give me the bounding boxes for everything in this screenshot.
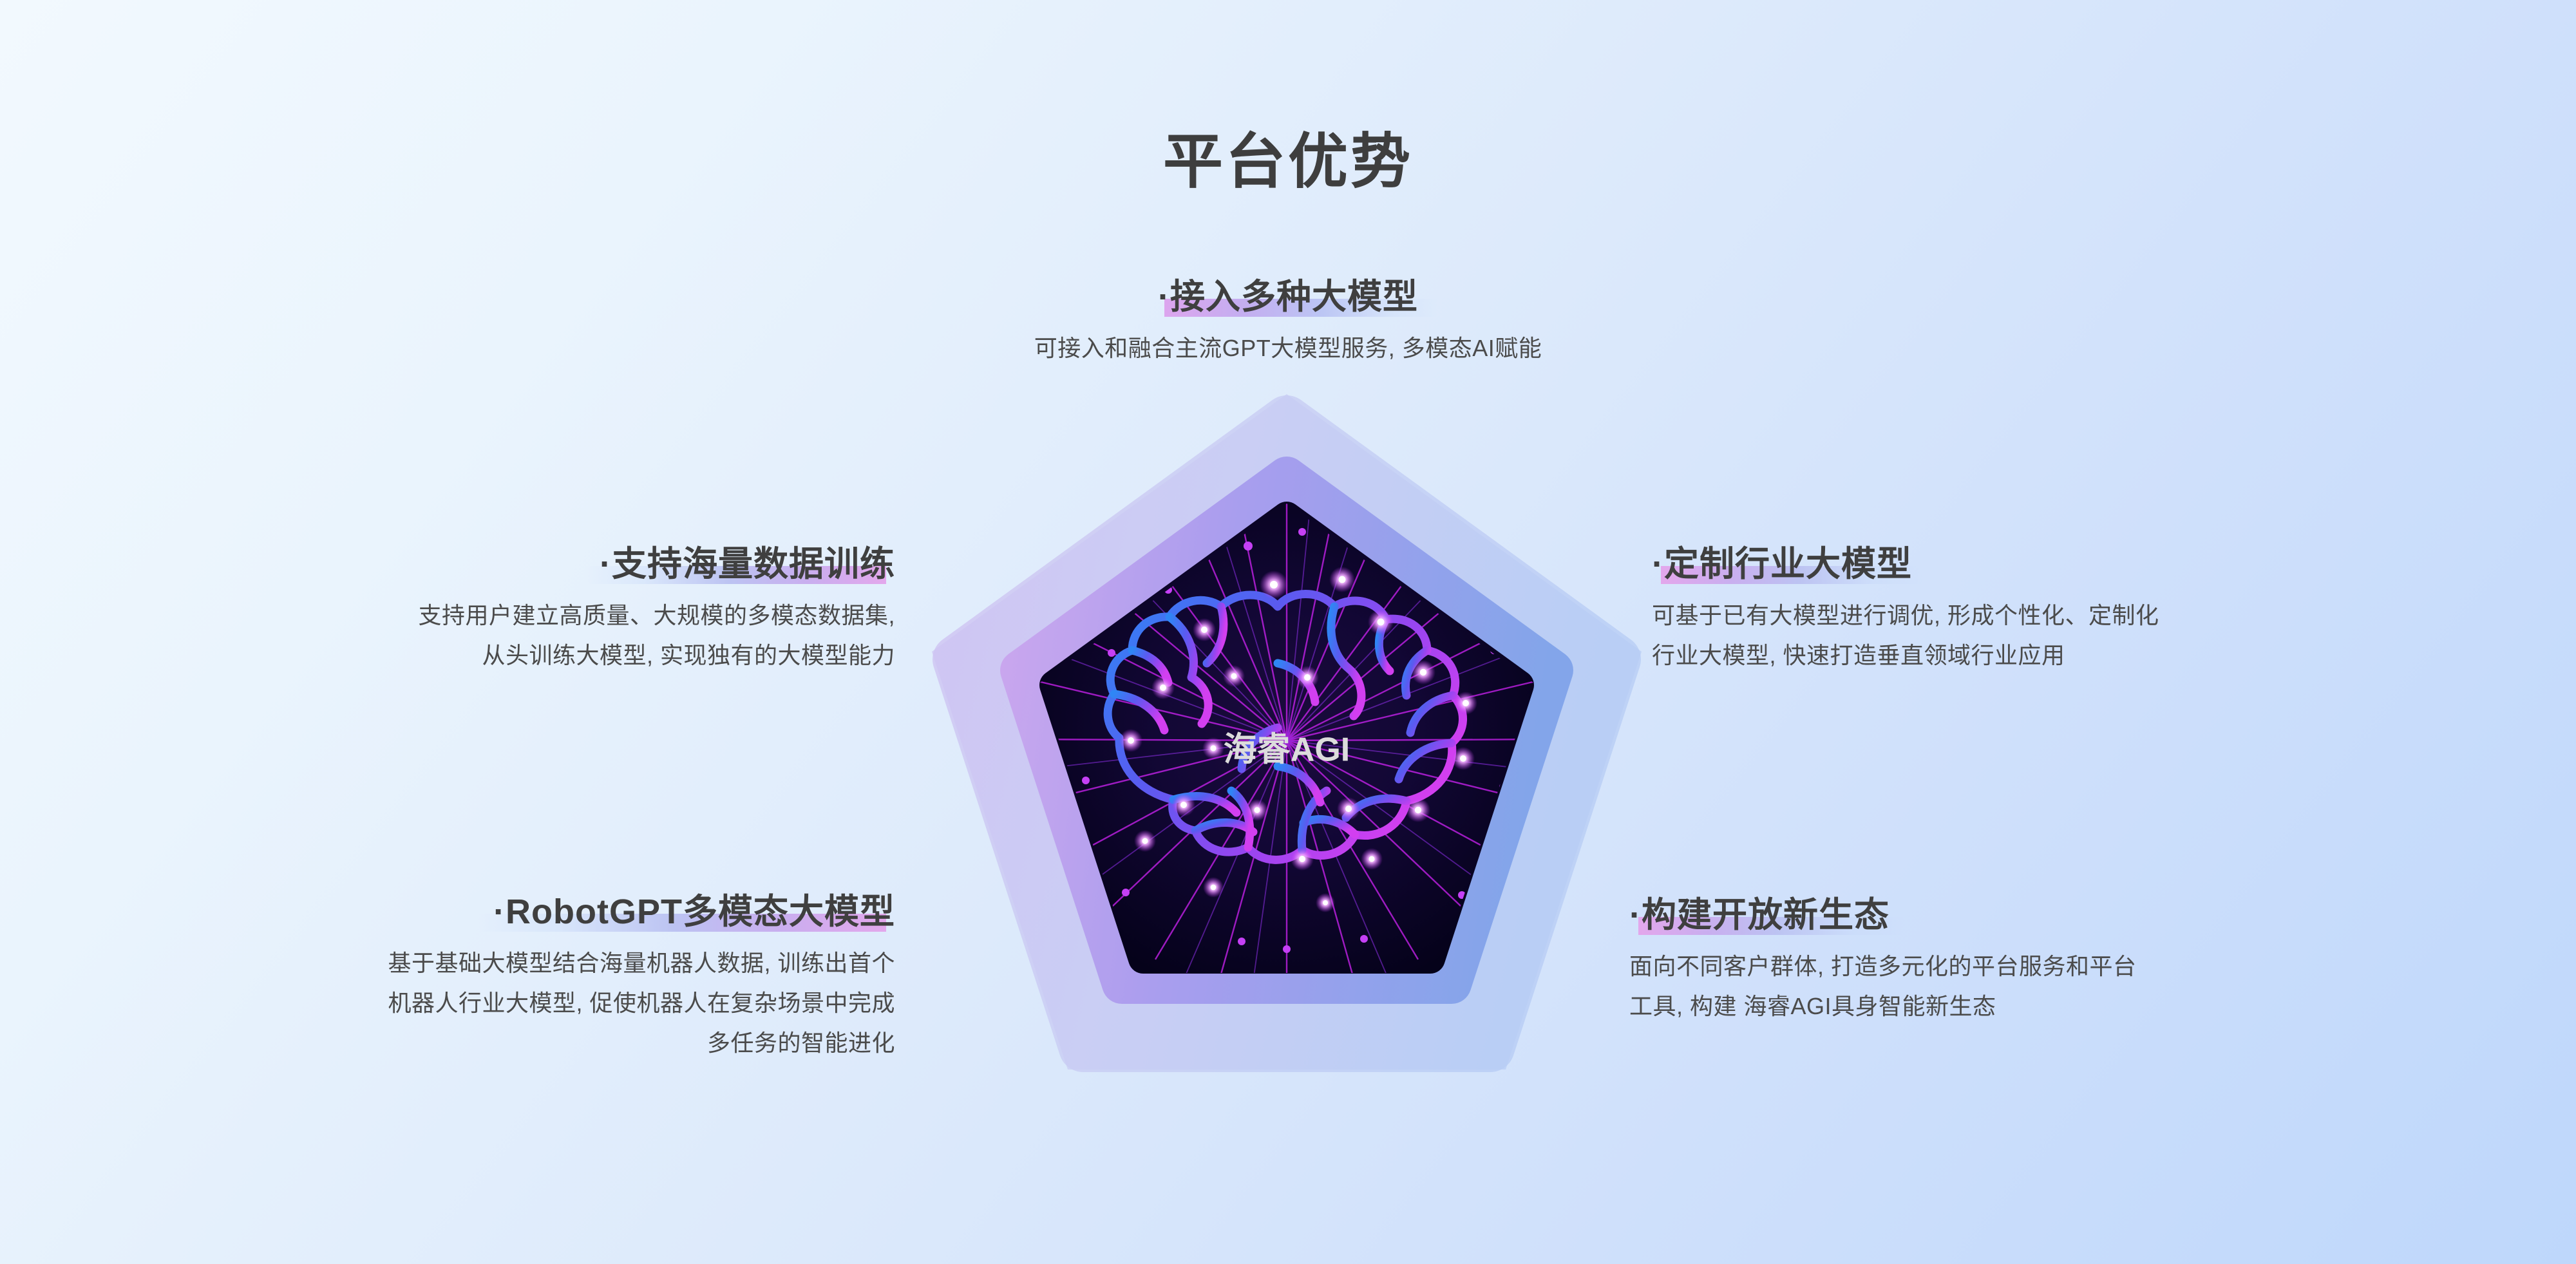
desc-line: 面向不同客户群体, 打造多元化的平台服务和平台: [1629, 947, 2454, 986]
feature-heading-multi-model-access: ·接入多种大模型: [1158, 277, 1418, 318]
desc-line: 从头训练大模型, 实现独有的大模型能力: [122, 636, 895, 675]
bullet-dot: ·: [493, 892, 506, 931]
desc-line: 机器人行业大模型, 促使机器人在复杂场景中完成: [122, 983, 895, 1023]
feature-mass-data-training: ·支持海量数据训练 支持用户建立高质量、大规模的多模态数据集, 从头训练大模型,…: [122, 544, 895, 675]
heading-text: 支持海量数据训练: [612, 545, 895, 583]
bullet-dot: ·: [1629, 896, 1642, 934]
desc-line: 行业大模型, 快速打造垂直领域行业应用: [1652, 636, 2457, 675]
desc-line: 基于基础大模型结合海量机器人数据, 训练出首个: [122, 943, 895, 983]
bullet-dot: ·: [1652, 545, 1664, 583]
bullet-dot: ·: [600, 545, 612, 583]
feature-heading-open-ecosystem: ·构建开放新生态: [1629, 895, 1889, 936]
heading-text: 接入多种大模型: [1170, 278, 1418, 316]
desc-line: 工具, 构建 海睿AGI具身智能新生态: [1629, 986, 2454, 1026]
feature-open-ecosystem: ·构建开放新生态 面向不同客户群体, 打造多元化的平台服务和平台 工具, 构建 …: [1629, 895, 2454, 1026]
feature-description-open-ecosystem: 面向不同客户群体, 打造多元化的平台服务和平台 工具, 构建 海睿AGI具身智能…: [1629, 947, 2454, 1026]
feature-heading-robotgpt-multimodal: ·RobotGPT多模态大模型: [493, 892, 895, 933]
bullet-dot: ·: [1158, 278, 1170, 316]
feature-description-multi-model-access: 可接入和融合主流GPT大模型服务, 多模态AI赋能: [773, 328, 1803, 368]
heading-text: 定制行业大模型: [1664, 545, 1912, 583]
desc-line: 可接入和融合主流GPT大模型服务, 多模态AI赋能: [773, 328, 1803, 368]
infographic-stage: 平台优势: [0, 0, 2576, 1264]
heading-text: RobotGPT多模态大模型: [506, 892, 895, 931]
feature-robotgpt-multimodal: ·RobotGPT多模态大模型 基于基础大模型结合海量机器人数据, 训练出首个 …: [122, 892, 895, 1062]
desc-line: 可基于已有大模型进行调优, 形成个性化、定制化: [1652, 596, 2457, 636]
page-title: 平台优势: [0, 113, 2576, 200]
desc-line: 多任务的智能进化: [122, 1023, 895, 1063]
feature-heading-mass-data-training: ·支持海量数据训练: [600, 544, 895, 585]
pentagon-logo-graphic: 海睿AGI: [913, 380, 1660, 1108]
feature-description-mass-data-training: 支持用户建立高质量、大规模的多模态数据集, 从头训练大模型, 实现独有的大模型能…: [122, 596, 895, 675]
feature-description-robotgpt-multimodal: 基于基础大模型结合海量机器人数据, 训练出首个 机器人行业大模型, 促使机器人在…: [122, 943, 895, 1063]
feature-multi-model-access: ·接入多种大模型 可接入和融合主流GPT大模型服务, 多模态AI赋能: [773, 277, 1803, 368]
desc-line: 支持用户建立高质量、大规模的多模态数据集,: [122, 596, 895, 636]
feature-heading-custom-industry-model: ·定制行业大模型: [1652, 544, 1912, 585]
feature-description-custom-industry-model: 可基于已有大模型进行调优, 形成个性化、定制化 行业大模型, 快速打造垂直领域行…: [1652, 596, 2457, 675]
center-logo-text: 海睿AGI: [1224, 731, 1350, 769]
feature-custom-industry-model: ·定制行业大模型 可基于已有大模型进行调优, 形成个性化、定制化 行业大模型, …: [1652, 544, 2457, 675]
heading-text: 构建开放新生态: [1642, 896, 1889, 934]
